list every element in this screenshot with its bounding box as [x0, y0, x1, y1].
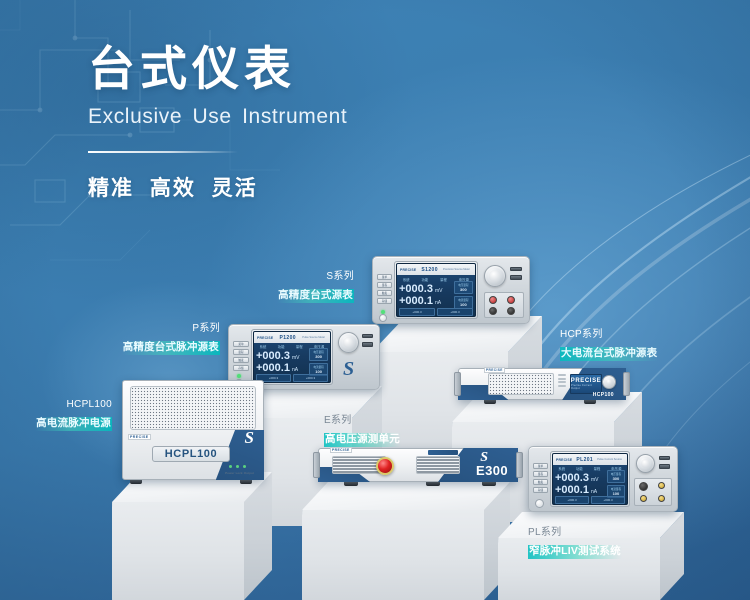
pl-tab-2[interactable]: 量程 — [594, 466, 601, 471]
p-tab-0[interactable]: 系统 — [260, 344, 267, 349]
banner-stage: 台式仪表 Exclusive Use Instrument 精准 高效 灵活 — [0, 0, 750, 600]
pl-usb-port[interactable] — [659, 456, 670, 460]
pl-current-row: +000.1 nA — [555, 484, 605, 496]
pl-voltage-value: +000.3 — [555, 472, 589, 484]
p-range-voltage-value: 300 — [312, 354, 325, 359]
label-hcpl100-desc: 高电流脉冲电源 — [35, 417, 112, 431]
s-rotary-knob[interactable] — [484, 265, 506, 287]
pl-display-model: PL201 — [572, 457, 597, 463]
pl-display-model-sub: Pulse Current Source — [597, 458, 624, 461]
s-current-unit: nA — [435, 300, 441, 306]
product-hcp-series[interactable]: PRECISE Precise Current Output HCP100 PR… — [458, 368, 626, 400]
pl-current-unit: nA — [591, 489, 597, 495]
label-p-series-desc: 高精度台式脉冲源表 — [122, 341, 220, 355]
s-tab-1[interactable]: 功能 — [421, 277, 428, 282]
product-pl-series[interactable]: 菜单 量程 触发 存储 PRECISE PL201 Pulse Current … — [528, 446, 678, 512]
s-softkey-column[interactable]: 菜单 量程 触发 存储 — [377, 264, 392, 314]
hcp-foot-left — [484, 400, 496, 404]
p-softkey-3[interactable]: 触发 — [233, 357, 249, 363]
label-hcpl100-model: HCPL100 — [20, 398, 112, 411]
pl-tab-1[interactable]: 功能 — [576, 466, 583, 471]
e300-indicator-strip — [428, 450, 458, 455]
pl-softkey-1[interactable]: 菜单 — [533, 463, 548, 469]
p-tab-1[interactable]: 功能 — [278, 344, 285, 349]
pl-display-footer: +000.3 +000.3 — [553, 496, 627, 504]
tagline: 精准 高效 灵活 — [88, 172, 347, 202]
pl-display-brand: PRECISE — [556, 458, 572, 462]
p-power-led — [237, 374, 241, 378]
pl-jack-monitor[interactable] — [658, 495, 665, 502]
p-readout-group: +000.3 mV +000.1 nA — [256, 351, 307, 373]
s-voltage-value: +000.3 — [399, 283, 433, 295]
s-current-value: +000.1 — [399, 295, 433, 307]
p-voltage-row: +000.3 mV — [256, 350, 307, 362]
s-jack-sense-lo[interactable] — [507, 307, 515, 315]
label-p-series: P系列 高精度台式脉冲源表 — [108, 322, 220, 356]
e300-foot-mid — [426, 482, 440, 486]
hcpl-brand-label: PRECISE — [128, 434, 151, 440]
s-display-model: S1200 — [416, 267, 443, 273]
pl-current-value: +000.1 — [555, 484, 589, 496]
e300-vent-grille-right — [416, 456, 460, 474]
product-hcpl100[interactable]: S PRECISE HCPL100 Power Lock Output — [122, 380, 264, 480]
pl-voltage-unit: mV — [591, 477, 599, 483]
p-range-voltage: 电压量程 300 — [309, 348, 328, 361]
pl-rotary-knob[interactable] — [636, 454, 655, 473]
p-limit-current: +000.3 — [293, 374, 328, 382]
pl-display-titlebar: PRECISE PL201 Pulse Current Source — [553, 454, 627, 465]
s-voltage-row: +000.3 mV — [399, 283, 452, 295]
label-e-series-desc: 高电压源测单元 — [324, 433, 401, 447]
hcpl-vent-grille — [130, 386, 256, 430]
label-p-series-model: P系列 — [108, 322, 220, 335]
headline-block: 台式仪表 Exclusive Use Instrument 精准 高效 灵活 — [88, 40, 347, 202]
pedestal-e-series — [302, 482, 510, 600]
label-hcp-series: HCP系列 大电流台式脉冲源表 — [560, 328, 680, 362]
s-readout-group: +000.3 mV +000.1 nA — [399, 284, 452, 307]
pl-jack-output-a[interactable] — [639, 482, 648, 491]
s-current-row: +000.1 nA — [399, 295, 452, 307]
pl-softkey-4[interactable]: 存储 — [533, 487, 548, 493]
s-display-main: +000.3 mV +000.1 nA 电压量程 300 电流量程 — [397, 283, 475, 308]
s-range-current-value: 100 — [457, 302, 470, 307]
hcpl-status-leds — [229, 465, 246, 468]
p-tab-2[interactable]: 量程 — [296, 344, 303, 349]
s-jack-force-hi[interactable] — [489, 296, 497, 304]
label-s-series-desc: 高精度台式源表 — [277, 289, 354, 303]
hcp-rotary-knob[interactable] — [602, 375, 616, 389]
p-usb-port[interactable] — [362, 334, 373, 338]
s-voltage-unit: mV — [435, 288, 443, 294]
p-display[interactable]: PRECISE P1200 Pulse Source Meter 系统 功能 量… — [253, 331, 331, 383]
s-jack-force-lo[interactable] — [489, 307, 497, 315]
s-power-button[interactable] — [379, 314, 387, 322]
product-s-series[interactable]: 菜单 量程 触发 存储 PRECISE S1200 Precision Sour… — [372, 256, 530, 324]
hcp-model-label: HCP100 — [593, 392, 614, 398]
p-current-value: +000.1 — [256, 362, 290, 374]
label-e-series-model: E系列 — [324, 414, 444, 427]
hcp-brand-label: PRECISE — [484, 367, 505, 373]
p-brand-logo-icon: S — [343, 358, 354, 381]
page-title: 台式仪表 — [88, 40, 347, 97]
label-s-series-model: S系列 — [246, 270, 354, 283]
s-interface-port[interactable] — [510, 275, 522, 280]
p-display-footer: +000.3 +000.3 — [254, 374, 330, 382]
pl-softkey-column[interactable]: 菜单 量程 触发 存储 — [533, 455, 548, 501]
pl-power-button[interactable] — [535, 499, 544, 508]
p-rotary-knob[interactable] — [338, 332, 359, 353]
pl-voltage-row: +000.3 mV — [555, 472, 605, 484]
pl-tab-0[interactable]: 系统 — [558, 466, 565, 471]
label-hcp-series-desc: 大电流台式脉冲源表 — [560, 347, 658, 361]
p-display-titlebar: PRECISE P1200 Pulse Source Meter — [254, 332, 330, 343]
p-voltage-unit: mV — [292, 355, 300, 361]
p-softkey-1[interactable]: 菜单 — [233, 341, 249, 347]
pl-range-voltage: 电压量程 300 — [607, 470, 625, 483]
pl-jack-trigger[interactable] — [658, 482, 665, 489]
s-display-titlebar: PRECISE S1200 Precision Source Meter — [397, 264, 475, 275]
e300-rack-ear-left — [313, 452, 320, 478]
hcpl-foot-right — [240, 480, 252, 484]
pl-jack-sync[interactable] — [640, 495, 647, 502]
pl-softkey-2[interactable]: 量程 — [533, 471, 548, 477]
pl-limit-voltage: +000.3 — [555, 496, 589, 504]
product-e-series[interactable]: PRECISE S E300 — [318, 448, 518, 482]
pl-range-voltage-value: 300 — [610, 476, 622, 481]
pl-limit-current: +000.3 — [591, 496, 625, 504]
p-current-row: +000.1 nA — [256, 362, 307, 374]
e300-foot-right — [482, 482, 496, 486]
p-softkey-4[interactable]: 存储 — [233, 365, 249, 371]
s-softkey-2[interactable]: 量程 — [377, 282, 392, 288]
pl-readout-group: +000.3 mV +000.1 nA — [555, 473, 605, 495]
s-range-voltage: 电压量程 300 — [454, 281, 473, 294]
s-limit-voltage: +000.3 — [399, 308, 435, 316]
s-tab-0[interactable]: 系统 — [403, 277, 410, 282]
label-pl-series: PL系列 窄脉冲LIV测试系统 — [528, 526, 658, 560]
p-current-unit: nA — [292, 367, 298, 373]
s-usb-port[interactable] — [510, 267, 522, 271]
s-jack-sense-hi[interactable] — [507, 296, 515, 304]
s-display-brand: PRECISE — [400, 268, 416, 272]
s-display-footer: +000.3 +000.3 — [397, 308, 475, 316]
hcp-display[interactable]: PRECISE Precise Current Output — [570, 374, 602, 394]
hcpl-model-plate: HCPL100 — [152, 446, 230, 462]
p-display-brand: PRECISE — [257, 336, 273, 340]
page-subtitle: Exclusive Use Instrument — [88, 105, 347, 129]
pl-interface-port[interactable] — [659, 464, 670, 469]
s-softkey-4[interactable]: 存储 — [377, 298, 392, 304]
label-e-series: E系列 高电压源测单元 — [324, 414, 444, 448]
hcp-rack-ear-left — [454, 372, 461, 396]
s-display[interactable]: PRECISE S1200 Precision Source Meter 系统 … — [396, 263, 476, 317]
hcp-vent-grille — [488, 373, 554, 395]
s-range-voltage-value: 300 — [457, 287, 470, 292]
hcpl-foot-left — [130, 480, 142, 484]
hcp-button-column[interactable] — [558, 374, 566, 387]
pl-display[interactable]: PRECISE PL201 Pulse Current Source 系统 功能… — [552, 453, 628, 505]
s-display-model-sub: Precision Source Meter — [443, 268, 472, 271]
p-softkey-2[interactable]: 量程 — [233, 349, 249, 355]
p-softkey-column[interactable]: 菜单 量程 触发 存储 — [233, 332, 249, 380]
label-pl-series-desc: 窄脉冲LIV测试系统 — [528, 545, 622, 559]
hcpl-footer-text: Power Lock Output — [225, 471, 254, 475]
e300-emergency-stop-button[interactable] — [376, 457, 394, 475]
pedestal-hcpl100 — [112, 472, 272, 600]
label-pl-series-model: PL系列 — [528, 526, 658, 539]
e300-foot-left — [344, 482, 358, 486]
label-hcp-series-model: HCP系列 — [560, 328, 680, 341]
pl-range-group: 电压量程 300 电流量程 100 — [607, 473, 625, 495]
title-divider — [88, 151, 238, 153]
s-range-group: 电压量程 300 电流量程 100 — [454, 284, 473, 307]
s-limit-current: +000.3 — [437, 308, 473, 316]
p-range-group: 电压量程 300 电流量程 100 — [309, 351, 328, 373]
hcp-display-sub: Precise Current Output — [571, 384, 601, 390]
s-softkey-3[interactable]: 触发 — [377, 290, 392, 296]
e300-model-label: E300 — [476, 463, 508, 478]
hcpl-brand-logo-icon: S — [245, 428, 254, 448]
p-voltage-value: +000.3 — [256, 350, 290, 362]
e300-rack-ear-right — [516, 452, 523, 478]
hcp-rack-ear-right — [623, 372, 630, 396]
s-tab-2[interactable]: 量程 — [440, 277, 447, 282]
p-interface-port[interactable] — [362, 342, 373, 347]
label-s-series: S系列 高精度台式源表 — [246, 270, 354, 304]
s-softkey-1[interactable]: 菜单 — [377, 274, 392, 280]
p-display-model: P1200 — [273, 335, 302, 341]
p-display-model-sub: Pulse Source Meter — [302, 336, 327, 339]
pl-softkey-3[interactable]: 触发 — [533, 479, 548, 485]
pl-display-main: +000.3 mV +000.1 nA 电压量程 300 电流量程 — [553, 472, 627, 496]
label-hcpl100: HCPL100 高电流脉冲电源 — [20, 398, 112, 432]
hcp-foot-right — [584, 400, 596, 404]
p-display-main: +000.3 mV +000.1 nA 电压量程 300 电流量程 — [254, 350, 330, 374]
